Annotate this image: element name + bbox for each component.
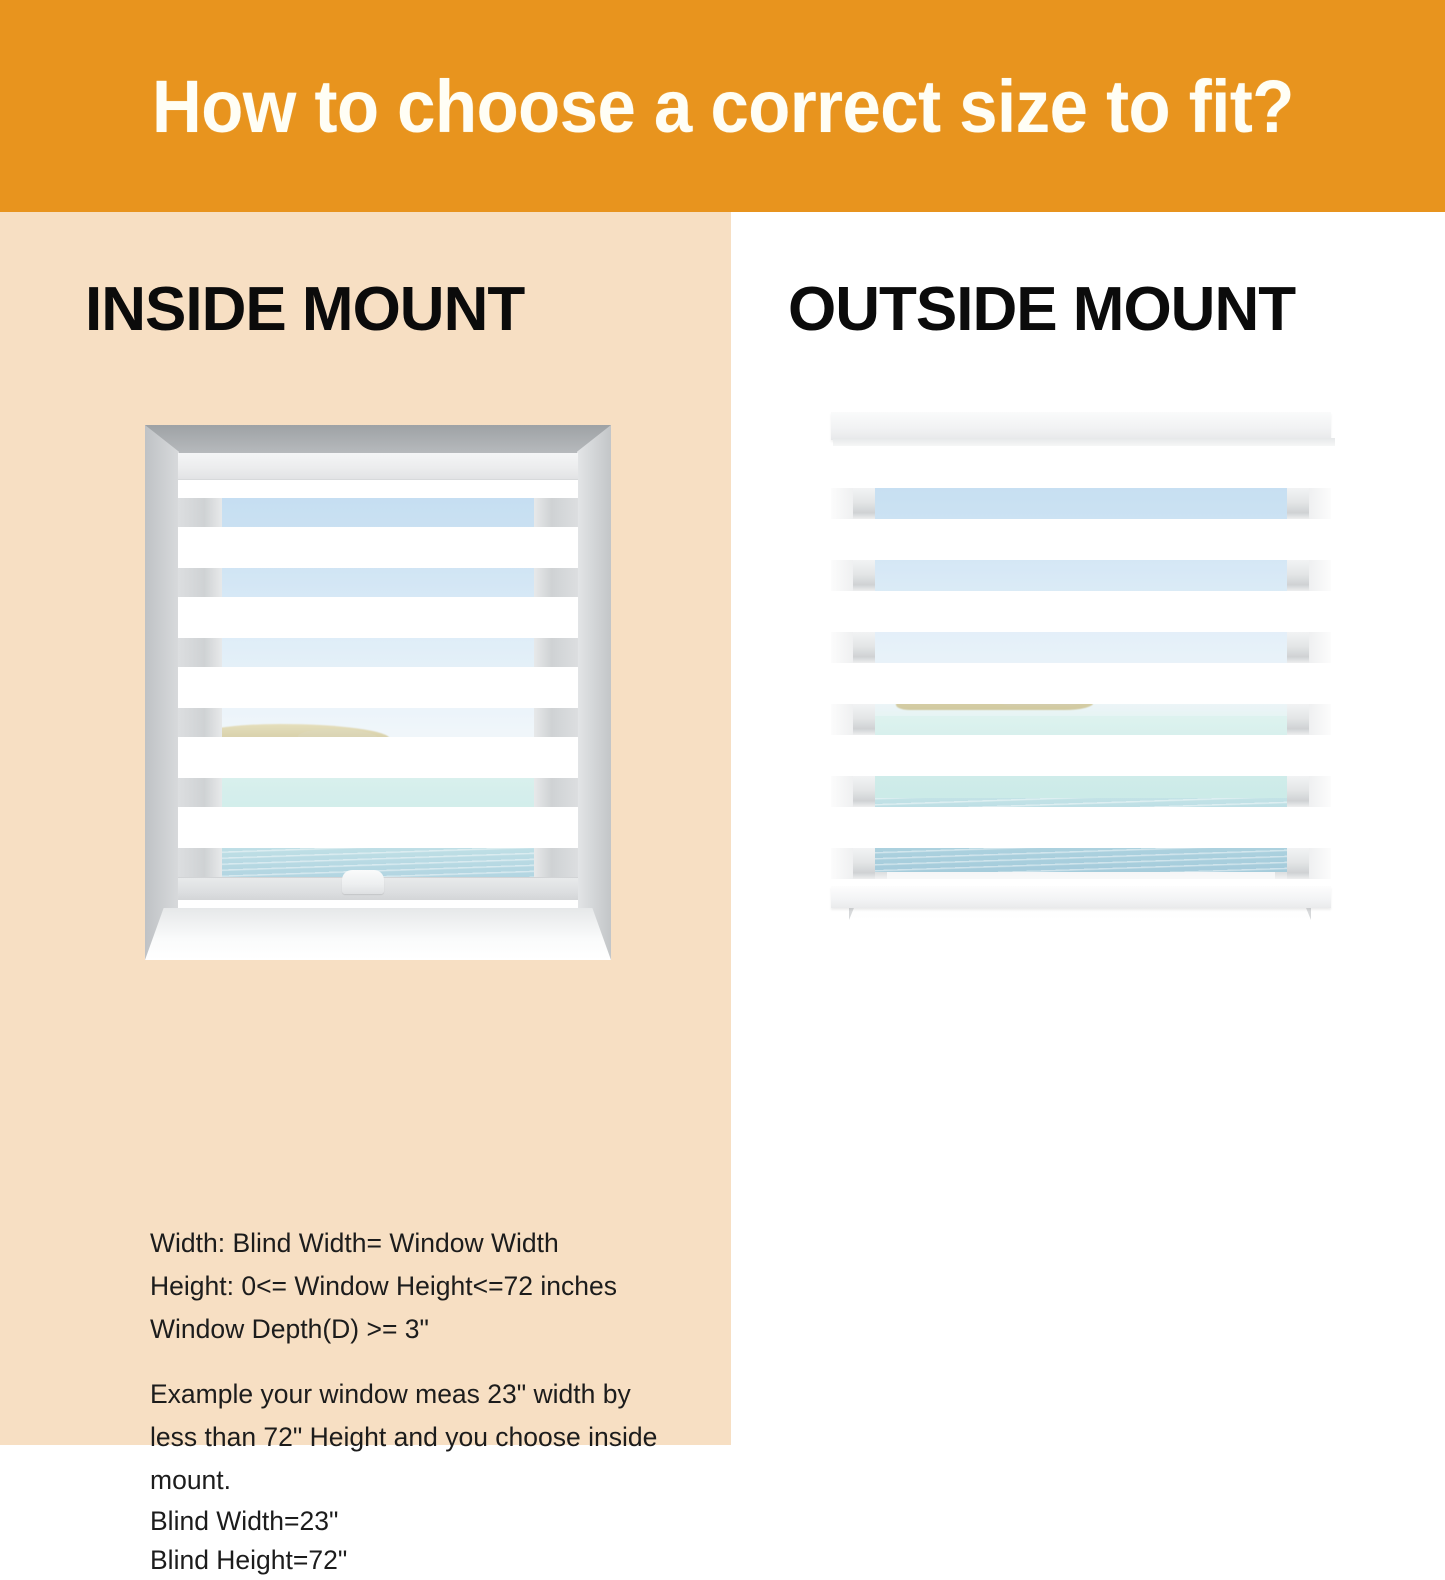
- blind-sheer-film: [875, 704, 1287, 735]
- blind-sheer-edge-left: [831, 848, 853, 879]
- blind-sheer-band: [831, 632, 1331, 663]
- blind-sheer-cap-right: [534, 708, 578, 737]
- blind-sheer-edge-right: [1309, 560, 1331, 591]
- blind-sheer-band: [831, 560, 1331, 591]
- blind-sheer-film: [875, 488, 1287, 519]
- blind-opaque-band: [178, 807, 578, 848]
- blind-sheer-edge-right: [1309, 488, 1331, 519]
- inside-spec-line: Window Depth(D) >= 3": [150, 1308, 710, 1351]
- blind-sheer-band: [178, 778, 578, 807]
- blind-sheer-edge-left: [831, 632, 853, 663]
- inside-example-line: Blind Width=23": [150, 1502, 710, 1541]
- window-reveal-left-face: [145, 425, 179, 960]
- blind-sheer-view: [875, 488, 1287, 519]
- blind-sheer-view: [875, 776, 1287, 807]
- blind-sheer-band: [831, 704, 1331, 735]
- blind-opaque-band: [831, 735, 1331, 776]
- blind-sheer-view: [875, 848, 1287, 879]
- blind-sheer-band: [831, 776, 1331, 807]
- blind-sheer-film: [875, 632, 1287, 663]
- page-title: How to choose a correct size to fit?: [152, 64, 1294, 149]
- blind-sheer-cap-left: [178, 498, 222, 527]
- blind-opaque-band: [831, 591, 1331, 632]
- blind-sheer-band: [831, 848, 1331, 879]
- blind-bottom-rail: [831, 886, 1331, 908]
- inside-example-line: Example your window meas 23" width by: [150, 1373, 710, 1416]
- blind-sheer-edge-left: [831, 560, 853, 591]
- blind-opaque-band: [178, 667, 578, 708]
- outside-mount-heading: OUTSIDE MOUNT: [788, 274, 1295, 345]
- window-sill: [145, 908, 611, 960]
- blind-opaque-band: [831, 663, 1331, 704]
- blind-sheer-cap-right: [534, 638, 578, 667]
- blind-sheer-cap-right: [534, 848, 578, 877]
- blind-sheer-band: [831, 488, 1331, 519]
- blind-sheer-edge-left: [831, 488, 853, 519]
- blind-sheer-cap-right: [534, 498, 578, 527]
- inside-spec-line: Height: 0<= Window Height<=72 inches: [150, 1265, 710, 1308]
- blind-sheer-band: [178, 498, 578, 527]
- blind-sheer-cap-left: [178, 778, 222, 807]
- blind-sheer-edge-right: [1309, 632, 1331, 663]
- inside-example-line: Blind Height=72": [150, 1541, 710, 1580]
- window-handle: [342, 870, 384, 894]
- blind-sheer-edge-left: [831, 776, 853, 807]
- window-glass-opening: [178, 453, 578, 908]
- inside-mount-heading: INSIDE MOUNT: [85, 274, 524, 345]
- inside-mount-panel: INSIDE MOUNT: [0, 212, 731, 1445]
- infographic-page: How to choose a correct size to fit? INS…: [0, 0, 1445, 1445]
- blind-sheer-band: [178, 568, 578, 597]
- blind-sheer-edge-right: [1309, 848, 1331, 879]
- inside-mount-illustration: [145, 425, 611, 960]
- blind-sheer-view: [875, 632, 1287, 663]
- blind-sheer-cap-left: [178, 638, 222, 667]
- blind-sheer-film: [875, 560, 1287, 591]
- blind-sheer-edge-right: [1309, 776, 1331, 807]
- blind-sheer-cap-right: [534, 568, 578, 597]
- inside-mount-text: Width: Blind Width= Window Width Height:…: [150, 1222, 710, 1580]
- blind-sheer-edge-right: [1309, 704, 1331, 735]
- outside-mount-panel: OUTSIDE MOUNT: [731, 212, 1445, 1445]
- blind-sheer-view: [875, 704, 1287, 735]
- blind-opaque-band: [831, 440, 1331, 488]
- blind-opaque-band: [178, 597, 578, 638]
- blind-opaque-band: [178, 527, 578, 568]
- outside-mount-illustration: [831, 412, 1331, 942]
- blind-sheer-edge-left: [831, 704, 853, 735]
- blind-opaque-band: [831, 519, 1331, 560]
- blind-opaque-band: [178, 737, 578, 778]
- blind-sheer-cap-left: [178, 568, 222, 597]
- blind-valance: [178, 453, 578, 480]
- blind-sheer-band: [178, 638, 578, 667]
- window-reveal-top-face: [145, 425, 611, 455]
- inside-example-line: less than 72" Height and you choose insi…: [150, 1416, 710, 1459]
- window-reveal-right-face: [577, 425, 611, 960]
- blind-sheer-cap-left: [178, 708, 222, 737]
- blind-sheer-film: [875, 776, 1287, 807]
- header-banner: How to choose a correct size to fit?: [0, 0, 1445, 212]
- blind-opaque-band: [831, 807, 1331, 848]
- blind-sheer-cap-left: [178, 848, 222, 877]
- blind-sheer-film: [875, 848, 1287, 879]
- blind-sheer-cap-right: [534, 778, 578, 807]
- blind-sheer-view: [875, 560, 1287, 591]
- inside-example-line: mount.: [150, 1459, 710, 1502]
- blind-sheer-band: [178, 708, 578, 737]
- inside-spec-line: Width: Blind Width= Window Width: [150, 1222, 710, 1265]
- blind-valance: [831, 412, 1331, 440]
